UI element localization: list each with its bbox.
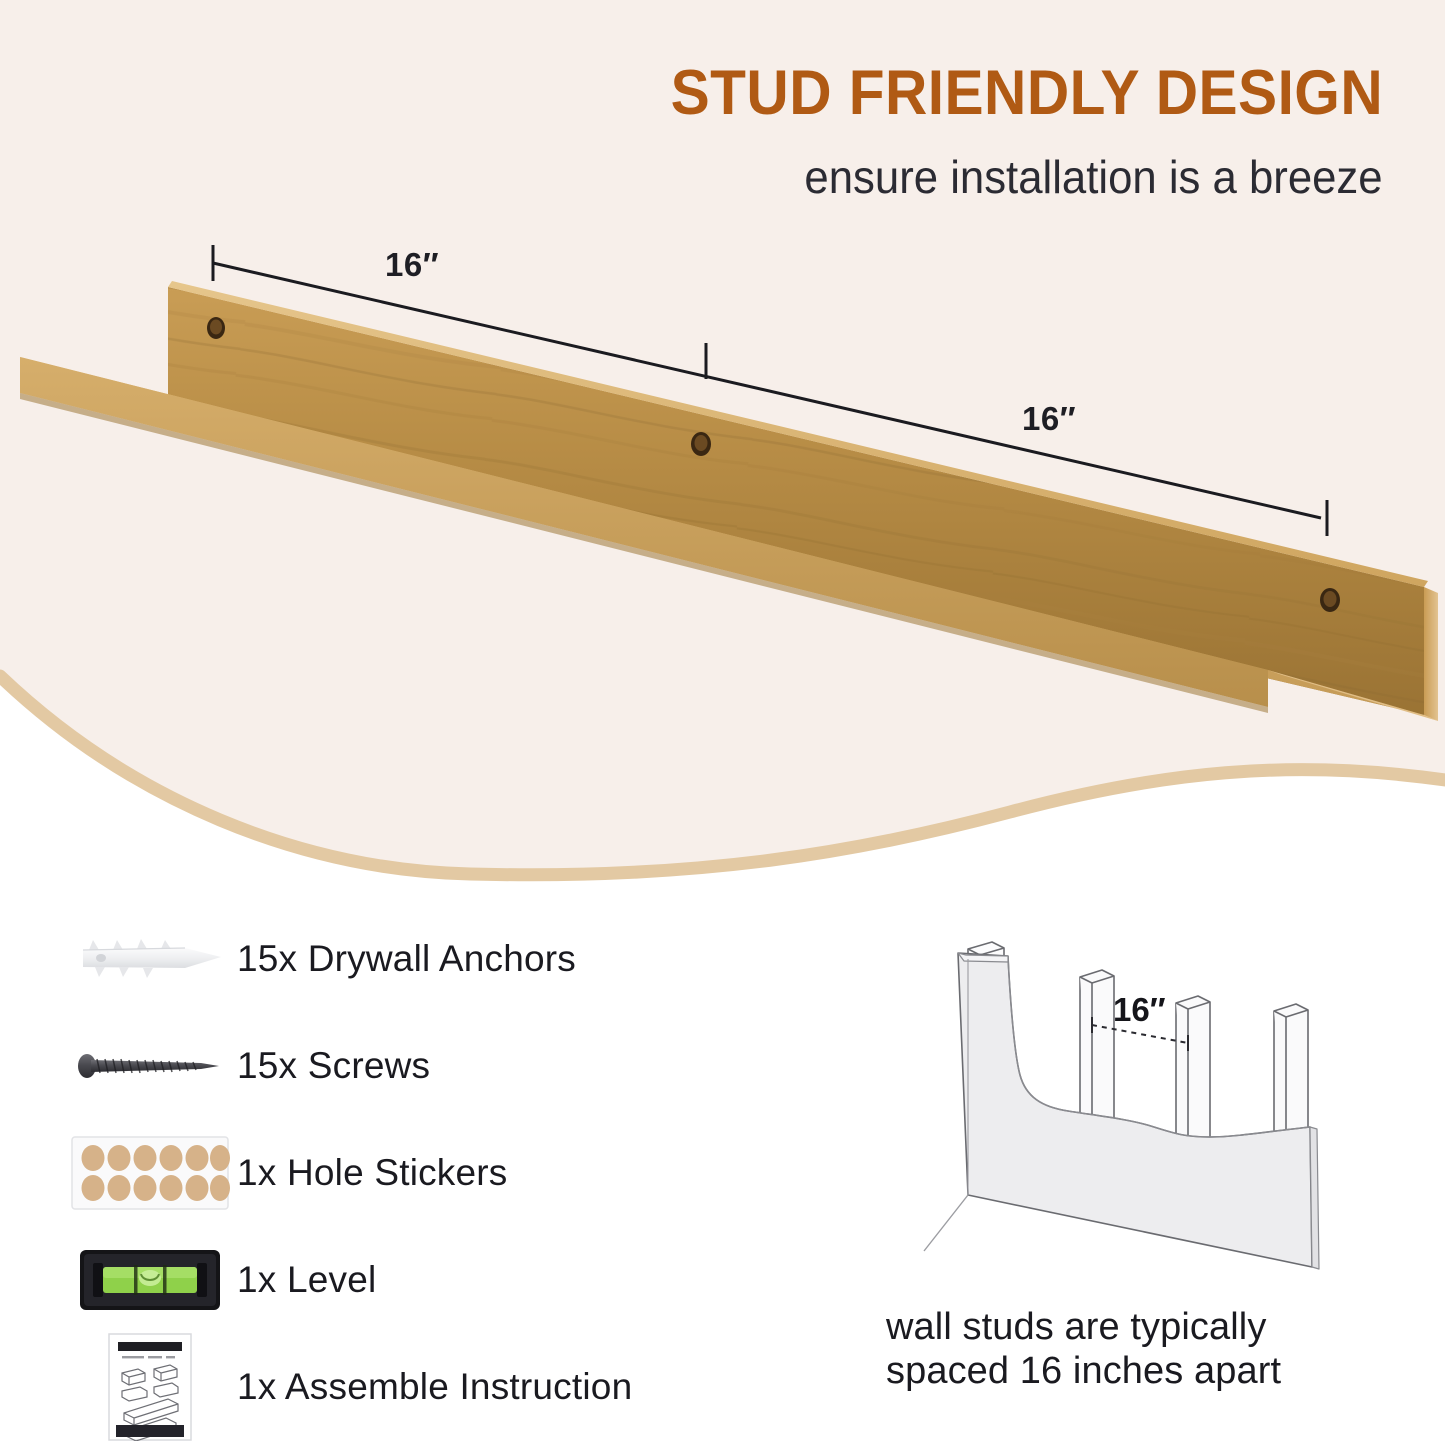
- caption-line-1: wall studs are typically: [886, 1305, 1426, 1349]
- dimension-label-segment-1: 16″: [385, 246, 439, 284]
- list-item: 1x Assemble Instruction: [62, 1333, 822, 1440]
- wall-stud: [1274, 1004, 1308, 1145]
- wall-stud: [1176, 996, 1210, 1149]
- booklet-footer-bar: [116, 1425, 184, 1437]
- accessory-label: 1x Hole Stickers: [237, 1152, 508, 1194]
- accessory-label: 1x Assemble Instruction: [237, 1366, 632, 1408]
- dimension-label-segment-2: 16″: [1022, 400, 1076, 438]
- list-item: 15x Screws: [62, 1012, 822, 1119]
- shelf-illustration: [0, 215, 1445, 735]
- caption-line-2: spaced 16 inches apart: [886, 1349, 1426, 1393]
- booklet-spec-text: [122, 1356, 175, 1358]
- level-vial-mark-right: [163, 1265, 167, 1295]
- page-headline: STUD FRIENDLY DESIGN: [671, 57, 1383, 129]
- screw-icon: [62, 1020, 237, 1112]
- instruction-booklet-icon: [62, 1341, 237, 1433]
- hole-stickers-icon: [62, 1127, 237, 1219]
- stud-spacing-label: 16″: [1113, 991, 1166, 1029]
- drywall-anchor-icon: [62, 913, 237, 1005]
- accessory-label: 1x Level: [237, 1259, 376, 1301]
- accessory-label: 15x Screws: [237, 1045, 430, 1087]
- level-vial-mark-left: [134, 1265, 138, 1295]
- list-item: 1x Hole Stickers: [62, 1119, 822, 1226]
- list-item: 1x Level: [62, 1226, 822, 1333]
- stud-diagram-caption: wall studs are typically spaced 16 inche…: [886, 1305, 1426, 1394]
- wall-stud-diagram: [880, 915, 1400, 1295]
- accessories-list: 15x Drywall Anchors: [62, 905, 822, 1440]
- list-item: 15x Drywall Anchors: [62, 905, 822, 1012]
- accessory-label: 15x Drywall Anchors: [237, 938, 576, 980]
- page-subheadline: ensure installation is a breeze: [805, 150, 1383, 204]
- booklet-header-bar: [118, 1342, 182, 1351]
- bubble-level-icon: [62, 1234, 237, 1326]
